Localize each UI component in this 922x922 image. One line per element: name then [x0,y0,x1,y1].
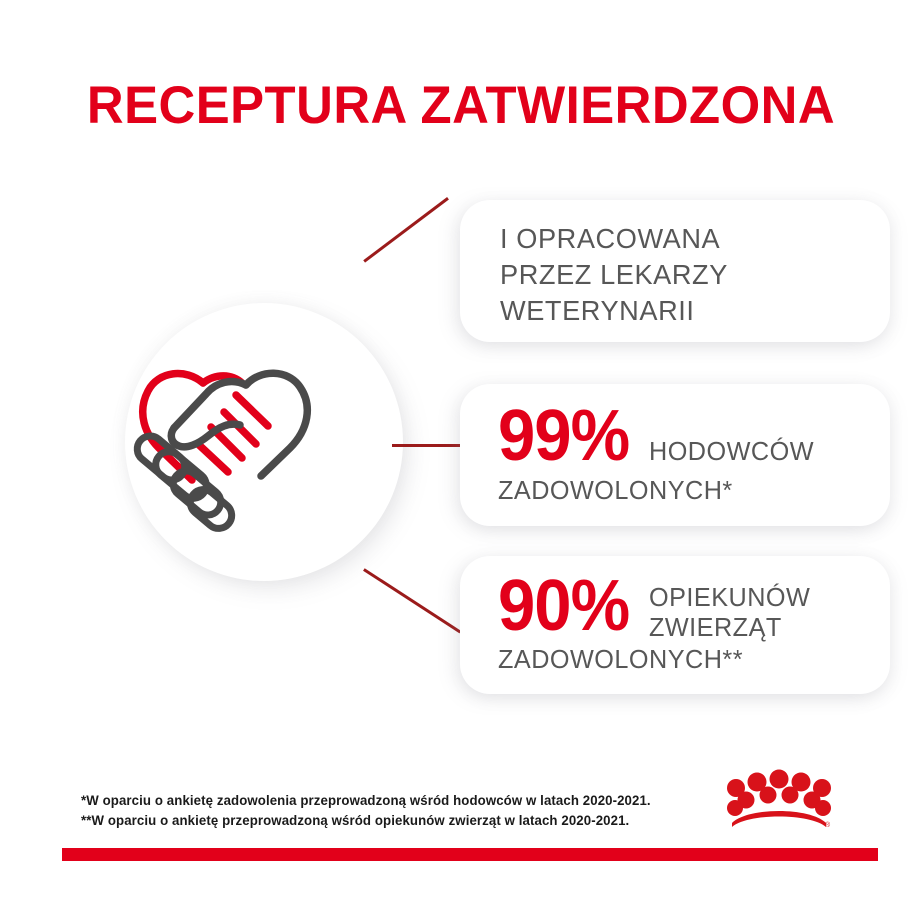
footnote-line-2: **W oparciu o ankietę przeprowadzoną wśr… [81,811,651,831]
footnote-line-1: *W oparciu o ankietę zadowolenia przepro… [81,791,651,811]
card-vets-line-3: WETERYNARII [500,293,728,329]
card-pet-owners-label-bottom: ZADOWOLONYCH** [498,644,743,674]
bottom-red-bar [62,848,878,861]
card-vets: I OPRACOWANA PRZEZ LEKARZY WETERYNARII [460,200,890,342]
royal-canin-crown-logo: ® [724,766,834,832]
card-breeders: 99% HODOWCÓW ZADOWOLONYCH* [460,384,890,526]
card-pet-owners-label-stack: OPIEKUNÓW ZWIERZĄT [649,570,810,642]
card-breeders-stat-row: 99% HODOWCÓW [498,400,819,472]
footnotes: *W oparciu o ankietę zadowolenia przepro… [81,791,651,831]
card-breeders-label-bottom: ZADOWOLONYCH* [498,475,733,505]
card-vets-line-2: PRZEZ LEKARZY [500,257,728,293]
card-breeders-value: 99% [498,400,629,472]
connector-line-bottom [363,568,461,633]
card-vets-line-1: I OPRACOWANA [500,221,728,257]
card-pet-owners-value: 90% [498,570,629,642]
connector-line-middle [392,444,462,447]
card-pet-owners-stat-row: 90% OPIEKUNÓW ZWIERZĄT [498,570,815,642]
card-pet-owners-label-line-1: OPIEKUNÓW [649,582,810,612]
handshake-heart-icon [128,352,363,537]
connector-line-top [363,197,448,262]
card-breeders-label-inline: HODOWCÓW [649,400,814,466]
page-title: RECEPTURA ZATWIERDZONA [18,78,903,134]
svg-text:®: ® [825,821,831,829]
infographic-canvas: RECEPTURA ZATWIERDZONA I [0,0,922,922]
card-pet-owners: 90% OPIEKUNÓW ZWIERZĄT ZADOWOLONYCH** [460,556,890,694]
card-vets-text: I OPRACOWANA PRZEZ LEKARZY WETERYNARII [500,221,728,329]
card-pet-owners-label-line-2: ZWIERZĄT [649,612,810,642]
